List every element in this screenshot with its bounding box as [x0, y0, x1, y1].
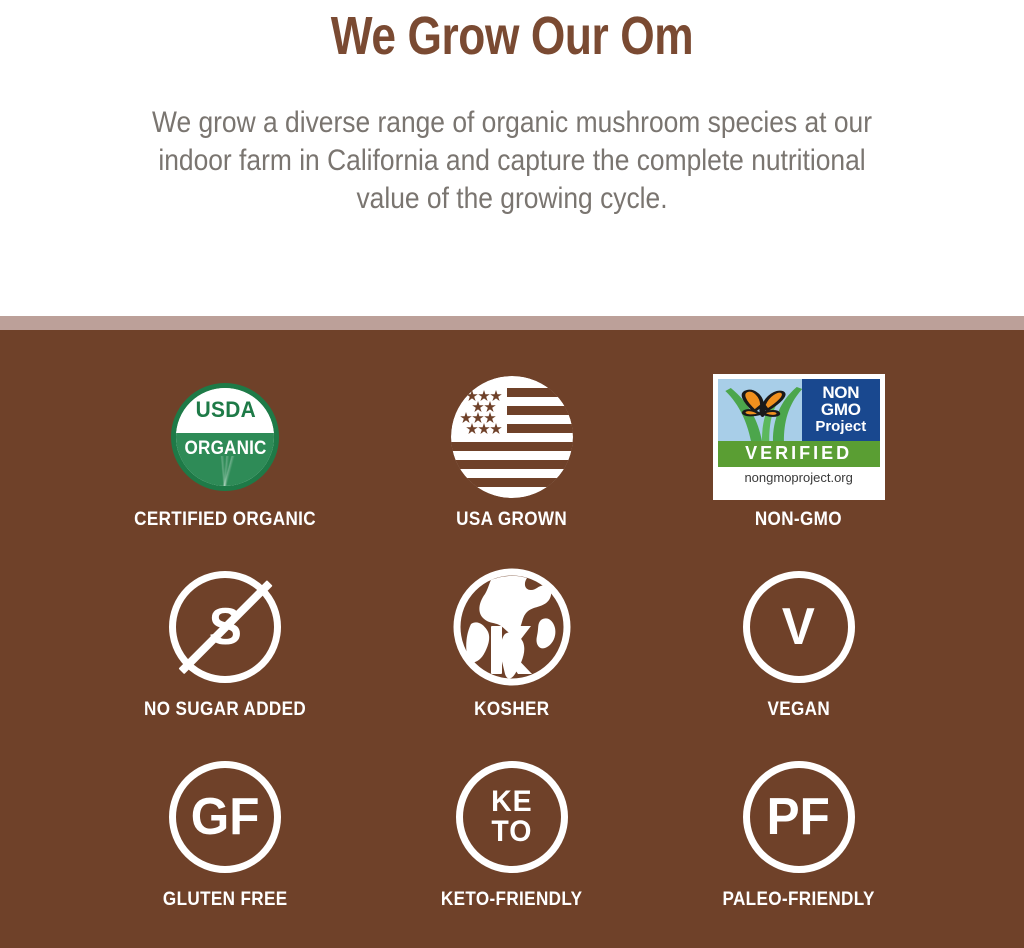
- badge-label: KETO-FRIENDLY: [441, 889, 582, 911]
- vegan-v-icon: V: [743, 571, 855, 683]
- badge-label: GLUTEN FREE: [163, 889, 288, 911]
- butterfly-grass-icon: [718, 379, 802, 441]
- non-gmo-project-verified-icon: NON GMO Project VERIFIED nongmoproject.o…: [713, 374, 885, 500]
- badge-art: [449, 374, 575, 499]
- keto-friendly-icon: KE TO: [456, 761, 568, 873]
- certifications-section: USDA ORGANIC CERTIFIED ORGANIC: [0, 330, 1024, 948]
- divider-band: [0, 316, 1024, 330]
- badge-no-sugar-added[interactable]: S NO SUGAR ADDED: [82, 564, 369, 754]
- no-sugar-added-icon: S: [169, 571, 281, 683]
- badge-label: USA GROWN: [457, 509, 568, 531]
- non-gmo-url-text: nongmoproject.org: [718, 467, 880, 489]
- kosher-globe-k-icon: [453, 568, 571, 686]
- badge-label: VEGAN: [767, 699, 830, 721]
- keto-glyph-line1: KE: [491, 785, 533, 818]
- non-gmo-line2: GMO: [821, 401, 861, 418]
- vegan-v-glyph: V: [782, 601, 815, 653]
- usda-seal-bottom-text: ORGANIC: [184, 438, 266, 460]
- badge-art: [453, 564, 571, 689]
- badge-art: GF: [169, 754, 281, 879]
- non-gmo-sky-panel: [718, 379, 802, 441]
- badge-label: PALEO-FRIENDLY: [722, 889, 874, 911]
- badge-vegan[interactable]: V VEGAN: [655, 564, 942, 754]
- badge-certified-organic[interactable]: USDA ORGANIC CERTIFIED ORGANIC: [82, 374, 369, 564]
- non-gmo-verified-band: VERIFIED: [718, 441, 880, 467]
- badge-label: KOSHER: [474, 699, 549, 721]
- badge-gluten-free[interactable]: GF GLUTEN FREE: [82, 754, 369, 944]
- non-gmo-top: NON GMO Project: [718, 379, 880, 441]
- usda-organic-seal-icon: USDA ORGANIC: [171, 383, 279, 491]
- non-gmo-text-panel: NON GMO Project: [802, 379, 880, 441]
- prohibition-slash-icon: [178, 579, 272, 673]
- badge-kosher[interactable]: KOSHER: [369, 564, 656, 754]
- keto-glyph: KE TO: [491, 787, 533, 847]
- page-title: We Grow Our Om: [92, 2, 932, 70]
- badge-non-gmo[interactable]: NON GMO Project VERIFIED nongmoproject.o…: [655, 374, 942, 564]
- badge-usa-grown[interactable]: USA GROWN: [369, 374, 656, 564]
- badge-art: USDA ORGANIC: [171, 374, 279, 499]
- badge-art: V: [743, 564, 855, 689]
- badge-paleo-friendly[interactable]: PF PALEO-FRIENDLY: [655, 754, 942, 944]
- header-section: We Grow Our Om We grow a diverse range o…: [0, 0, 1024, 316]
- usda-seal-top: USDA: [176, 388, 274, 433]
- badge-art: KE TO: [456, 754, 568, 879]
- badge-art: S: [169, 564, 281, 689]
- gluten-free-glyph: GF: [191, 791, 260, 843]
- usda-seal-bottom: ORGANIC: [176, 433, 274, 486]
- intro-paragraph: We grow a diverse range of organic mushr…: [125, 104, 899, 218]
- badge-label: NON-GMO: [755, 509, 842, 531]
- badge-art: PF: [743, 754, 855, 879]
- usda-seal-top-text: USDA: [195, 397, 255, 423]
- badge-keto-friendly[interactable]: KE TO KETO-FRIENDLY: [369, 754, 656, 944]
- badge-label: CERTIFIED ORGANIC: [134, 509, 316, 531]
- non-gmo-line3: Project: [815, 418, 866, 435]
- paleo-glyph: PF: [767, 791, 830, 843]
- usa-flag-circle-icon: [449, 374, 575, 500]
- non-gmo-line1: NON: [822, 384, 859, 401]
- badge-grid: USDA ORGANIC CERTIFIED ORGANIC: [82, 374, 942, 944]
- badge-label: NO SUGAR ADDED: [144, 699, 306, 721]
- badge-art: NON GMO Project VERIFIED nongmoproject.o…: [713, 374, 885, 499]
- gluten-free-gf-icon: GF: [169, 761, 281, 873]
- paleo-friendly-pf-icon: PF: [743, 761, 855, 873]
- keto-glyph-line2: TO: [492, 815, 533, 848]
